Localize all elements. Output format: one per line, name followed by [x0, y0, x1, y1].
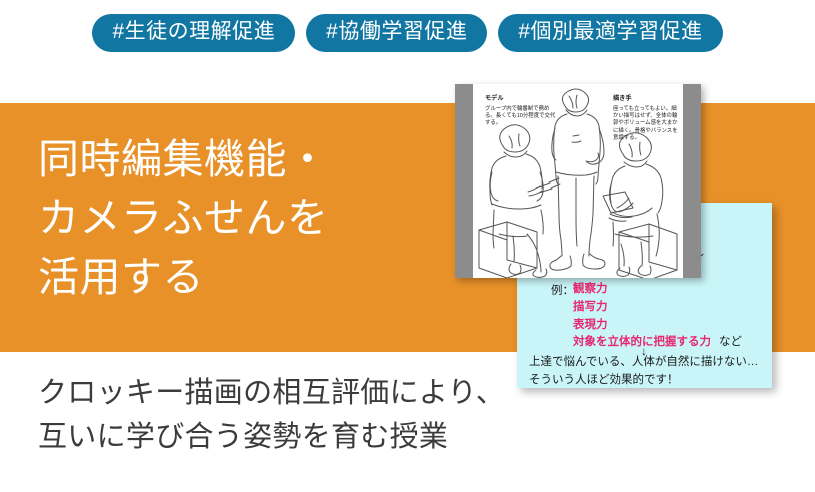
hashtag-pill-3[interactable]: #個別最適学習促進: [498, 14, 722, 52]
model-label-body: グループ内で輪番制で務める。長くても10分程度で交代する。: [485, 106, 557, 128]
drawer-label-title: 描き手: [613, 95, 679, 104]
headline-line-2: カメラふせんを: [38, 189, 438, 248]
note-example-label: 例：: [551, 282, 574, 298]
subtitle-line-2: 互いに学び合う姿勢を育む授業: [38, 416, 508, 460]
model-label-title: モデル: [485, 95, 557, 104]
slide-canvas: #生徒の理解促進 #協働学習促進 #個別最適学習促進 同時編集機能・ カメラふせ…: [0, 0, 815, 492]
illustration-page: モデル グループ内で輪番制で務める。長くても10分程度で交代する。 描き手 座っ…: [473, 84, 683, 278]
note-conclusion-line-1: 上達で悩んでいる、人体が自然に描けない…: [529, 354, 758, 372]
illustration-label-model: モデル グループ内で輪番制で務める。長くても10分程度で交代する。: [485, 95, 557, 128]
headline-line-3: 活用する: [38, 248, 438, 307]
illustration-label-drawer: 描き手 座っても立ってもよい。細かい描写はせず、全体の輪郭やボリューム感を大まか…: [613, 95, 679, 143]
subtitle-line-1: クロッキー描画の相互評価により、: [38, 372, 508, 416]
headline-line-1: 同時編集機能・: [38, 130, 438, 189]
note-skill-2: 描写力: [573, 299, 742, 317]
note-skill-1: 観察力: [573, 281, 742, 299]
note-skills-suffix: など: [719, 336, 742, 348]
note-conclusion-line-2: そういう人ほど効果的です！: [529, 372, 758, 390]
hashtag-pill-1[interactable]: #生徒の理解促進: [92, 14, 295, 52]
note-conclusion: 上達で悩んでいる、人体が自然に描けない… そういう人ほど効果的です！: [529, 354, 758, 390]
drawer-label-body: 座っても立ってもよい。細かい描写はせず、全体の輪郭やボリューム感を大まかに描く。…: [613, 106, 679, 143]
note-skill-list: 観察力 描写力 表現力 対象を立体的に把握する力など: [573, 281, 742, 352]
croquis-illustration: モデル グループ内で輪番制で務める。長くても10分程度で交代する。 描き手 座っ…: [455, 84, 701, 278]
hashtag-row: #生徒の理解促進 #協働学習促進 #個別最適学習促進: [0, 14, 815, 52]
note-skill-4: 対象を立体的に把握する力など: [573, 334, 742, 352]
subtitle: クロッキー描画の相互評価により、 互いに学び合う姿勢を育む授業: [38, 372, 508, 459]
hashtag-pill-2[interactable]: #協働学習促進: [306, 14, 487, 52]
note-skill-3: 表現力: [573, 317, 742, 335]
page-title: 同時編集機能・ カメラふせんを 活用する: [38, 130, 438, 307]
